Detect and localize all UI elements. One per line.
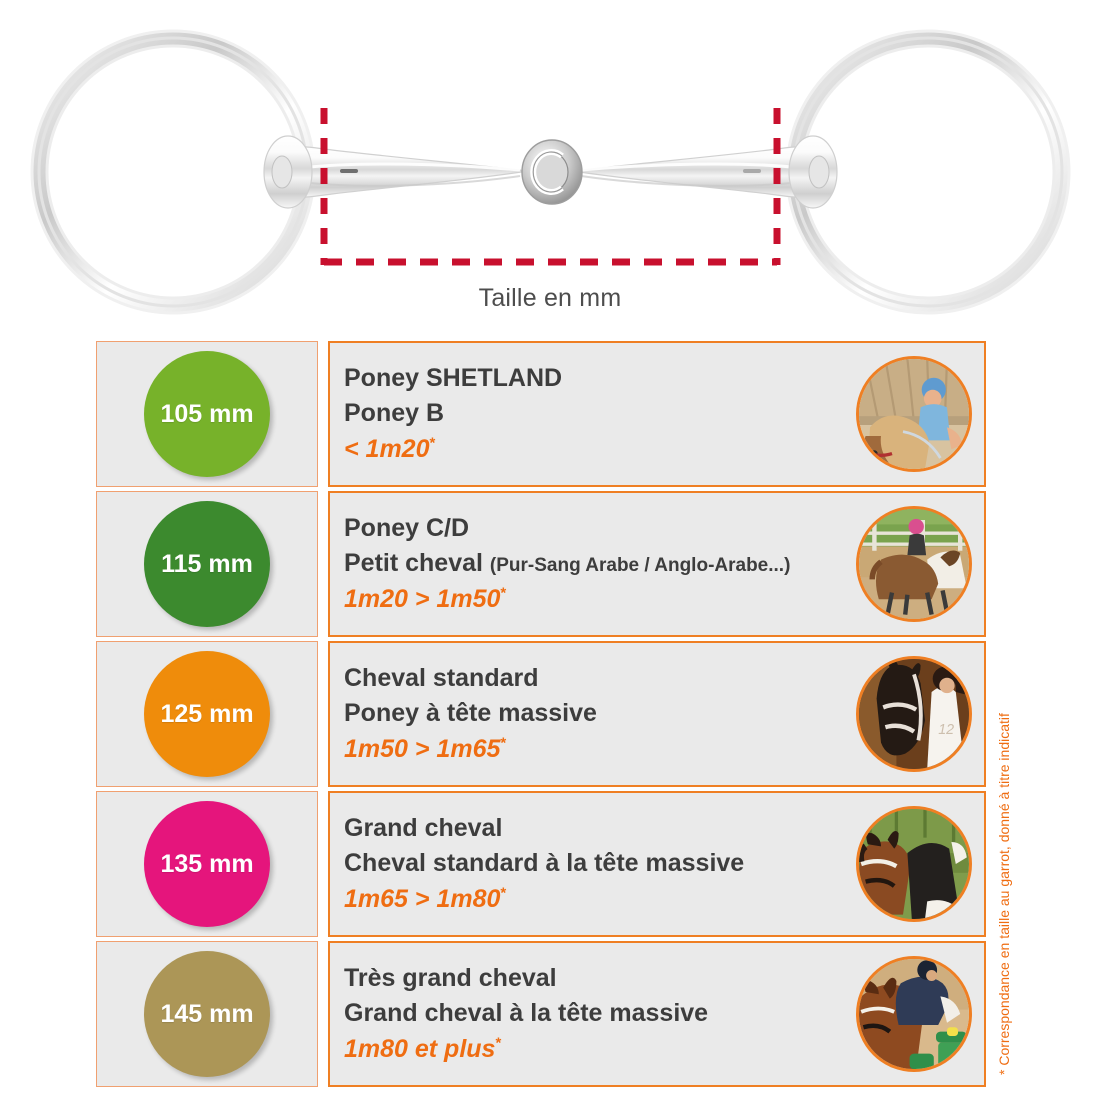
footnote-marker: *	[500, 735, 506, 752]
footnote-marker: *	[500, 885, 506, 902]
description-cell: Très grand cheval Grand cheval à la tête…	[328, 941, 986, 1087]
bay-horse-dressage-photo	[856, 806, 972, 922]
bit-left-arm	[278, 147, 528, 197]
primary-label: Poney SHETLAND	[344, 361, 874, 396]
svg-text:12: 12	[938, 722, 954, 738]
footnote-text: * Correspondance en taille au garrot, do…	[996, 645, 1012, 1075]
primary-label: Très grand cheval	[344, 961, 874, 996]
size-caption: Taille en mm	[0, 284, 1100, 313]
size-cell: 125 mm	[96, 641, 318, 787]
size-badge: 125 mm	[144, 651, 270, 777]
size-cell: 105 mm	[96, 341, 318, 487]
snaffle-bit-illustration	[0, 0, 1100, 330]
description-cell: Poney C/D Petit cheval (Pur-Sang Arabe /…	[328, 491, 986, 637]
size-cell: 135 mm	[96, 791, 318, 937]
description-cell: Cheval standard Poney à tête massive 1m5…	[328, 641, 986, 787]
size-cell: 145 mm	[96, 941, 318, 1087]
height-range: 1m50 > 1m65*	[344, 732, 874, 767]
secondary-label: Poney à tête massive	[344, 696, 874, 731]
secondary-note: (Pur-Sang Arabe / Anglo-Arabe...)	[490, 555, 791, 576]
bit-center-joint	[522, 140, 582, 204]
size-guide-infographic: Taille en mm 105 mm Poney SHETLAND Poney…	[0, 0, 1100, 1100]
dark-horse-woman-photo: 12	[856, 656, 972, 772]
size-badge: 135 mm	[144, 801, 270, 927]
size-badge: 115 mm	[144, 501, 270, 627]
description-text: Cheval standard Poney à tête massive 1m5…	[344, 661, 874, 767]
footnote-marker: *	[500, 585, 506, 602]
size-cell: 115 mm	[96, 491, 318, 637]
table-row: 115 mm Poney C/D Petit cheval (Pur-Sang …	[96, 491, 986, 637]
table-row: 105 mm Poney SHETLAND Poney B < 1m20*	[96, 341, 986, 487]
secondary-label: Cheval standard à la tête massive	[344, 846, 874, 881]
description-text: Très grand cheval Grand cheval à la tête…	[344, 961, 874, 1067]
primary-label: Cheval standard	[344, 661, 874, 696]
secondary-label: Petit cheval (Pur-Sang Arabe / Anglo-Ara…	[344, 546, 874, 581]
footnote-marker: *	[495, 1035, 501, 1052]
showjumping-horse-photo	[856, 956, 972, 1072]
secondary-label: Grand cheval à la tête massive	[344, 996, 874, 1031]
table-row: 125 mm Cheval standard Poney à tête mass…	[96, 641, 986, 787]
size-badge: 145 mm	[144, 951, 270, 1077]
footnote-marker: *	[430, 435, 436, 452]
description-cell: Grand cheval Cheval standard à la tête m…	[328, 791, 986, 937]
description-cell: Poney SHETLAND Poney B < 1m20*	[328, 341, 986, 487]
primary-label: Poney C/D	[344, 511, 874, 546]
primary-label: Grand cheval	[344, 811, 874, 846]
height-range: < 1m20*	[344, 432, 874, 467]
size-badge: 105 mm	[144, 351, 270, 477]
description-text: Grand cheval Cheval standard à la tête m…	[344, 811, 874, 917]
table-row: 145 mm Très grand cheval Grand cheval à …	[96, 941, 986, 1087]
height-range: 1m65 > 1m80*	[344, 882, 874, 917]
pony-shetland-girl-photo	[856, 356, 972, 472]
table-row: 135 mm Grand cheval Cheval standard à la…	[96, 791, 986, 937]
bit-left-collar	[264, 136, 312, 208]
bit-measurement-diagram: Taille en mm	[0, 0, 1100, 330]
size-table: 105 mm Poney SHETLAND Poney B < 1m20*	[96, 341, 986, 1087]
description-text: Poney SHETLAND Poney B < 1m20*	[344, 361, 874, 467]
pony-rider-arena-photo	[856, 506, 972, 622]
secondary-label: Poney B	[344, 396, 874, 431]
height-range: 1m20 > 1m50*	[344, 582, 874, 617]
bit-right-arm	[573, 147, 823, 197]
description-text: Poney C/D Petit cheval (Pur-Sang Arabe /…	[344, 511, 874, 617]
bit-right-collar	[789, 136, 837, 208]
height-range: 1m80 et plus*	[344, 1032, 874, 1067]
